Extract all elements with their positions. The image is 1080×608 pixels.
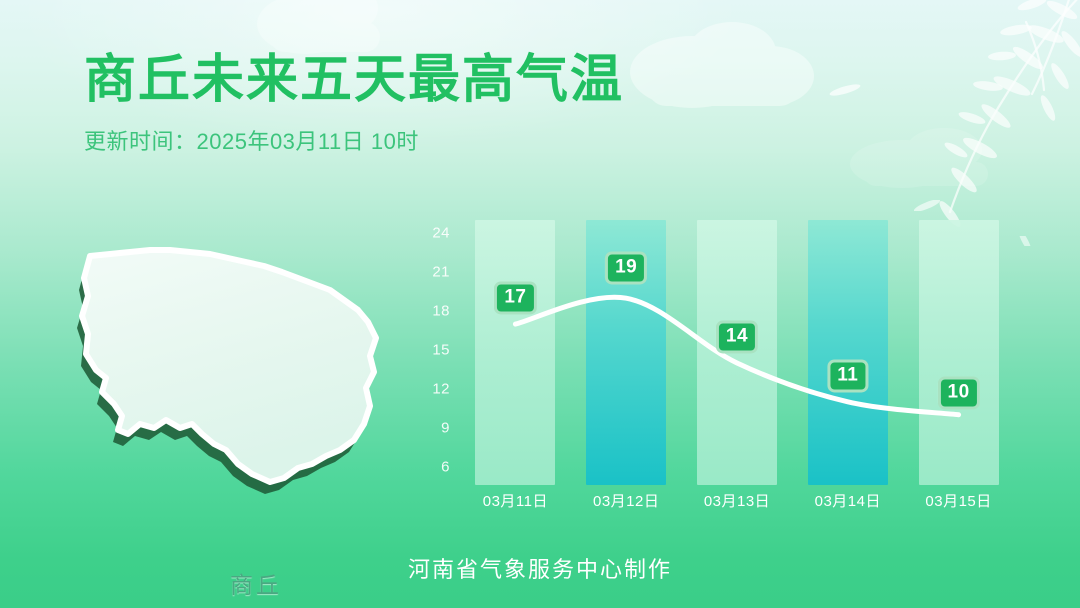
floating-leaf-icon <box>828 84 862 96</box>
x-axis-label: 03月12日 <box>571 490 681 511</box>
temperature-curve <box>515 297 958 415</box>
floating-leaf-icon <box>1012 236 1038 246</box>
y-axis-tick: 9 <box>414 419 450 436</box>
x-axis-label: 03月11日 <box>460 490 570 511</box>
y-axis-tick: 12 <box>414 380 450 397</box>
y-axis-tick: 15 <box>414 342 450 359</box>
x-axis: 03月11日03月12日03月13日03月14日03月15日 <box>460 490 1014 518</box>
shangqiu-map-icon <box>62 238 412 530</box>
cloud-icon <box>840 120 1010 190</box>
shangqiu-map: 商丘 <box>62 238 412 530</box>
update-time: 更新时间：2025年03月11日 10时 <box>84 124 784 156</box>
temperature-badge-5: 10 <box>938 376 980 409</box>
weather-forecast-poster: 商丘未来五天最高气温 更新时间：2025年03月11日 10时 商丘 24211… <box>0 0 1080 608</box>
y-axis-tick: 24 <box>414 225 450 242</box>
floating-leaf-icon <box>912 200 942 211</box>
footer-credit: 河南省气象服务中心制作 <box>0 552 1080 584</box>
x-axis-label: 03月13日 <box>682 490 792 511</box>
temperature-badge-4: 11 <box>827 359 868 392</box>
temperature-chart: 242118151296 1719141110 03月11日03月12日03月1… <box>414 214 1014 514</box>
cloud-icon <box>250 0 400 56</box>
y-axis-tick: 6 <box>414 458 450 475</box>
y-axis: 242118151296 <box>414 214 450 476</box>
y-axis-tick: 21 <box>414 264 450 281</box>
y-axis-tick: 18 <box>414 303 450 320</box>
temperature-badge-2: 19 <box>605 252 647 285</box>
plot-area: 1719141110 03月11日03月12日03月13日03月14日03月15… <box>460 214 1014 514</box>
x-axis-label: 03月14日 <box>793 490 903 511</box>
temperature-badge-1: 17 <box>494 282 536 315</box>
x-axis-label: 03月15日 <box>904 490 1014 511</box>
page-title: 商丘未来五天最高气温 <box>84 52 784 108</box>
temperature-badge-3: 14 <box>716 320 758 353</box>
header: 商丘未来五天最高气温 更新时间：2025年03月11日 10时 <box>84 52 784 156</box>
